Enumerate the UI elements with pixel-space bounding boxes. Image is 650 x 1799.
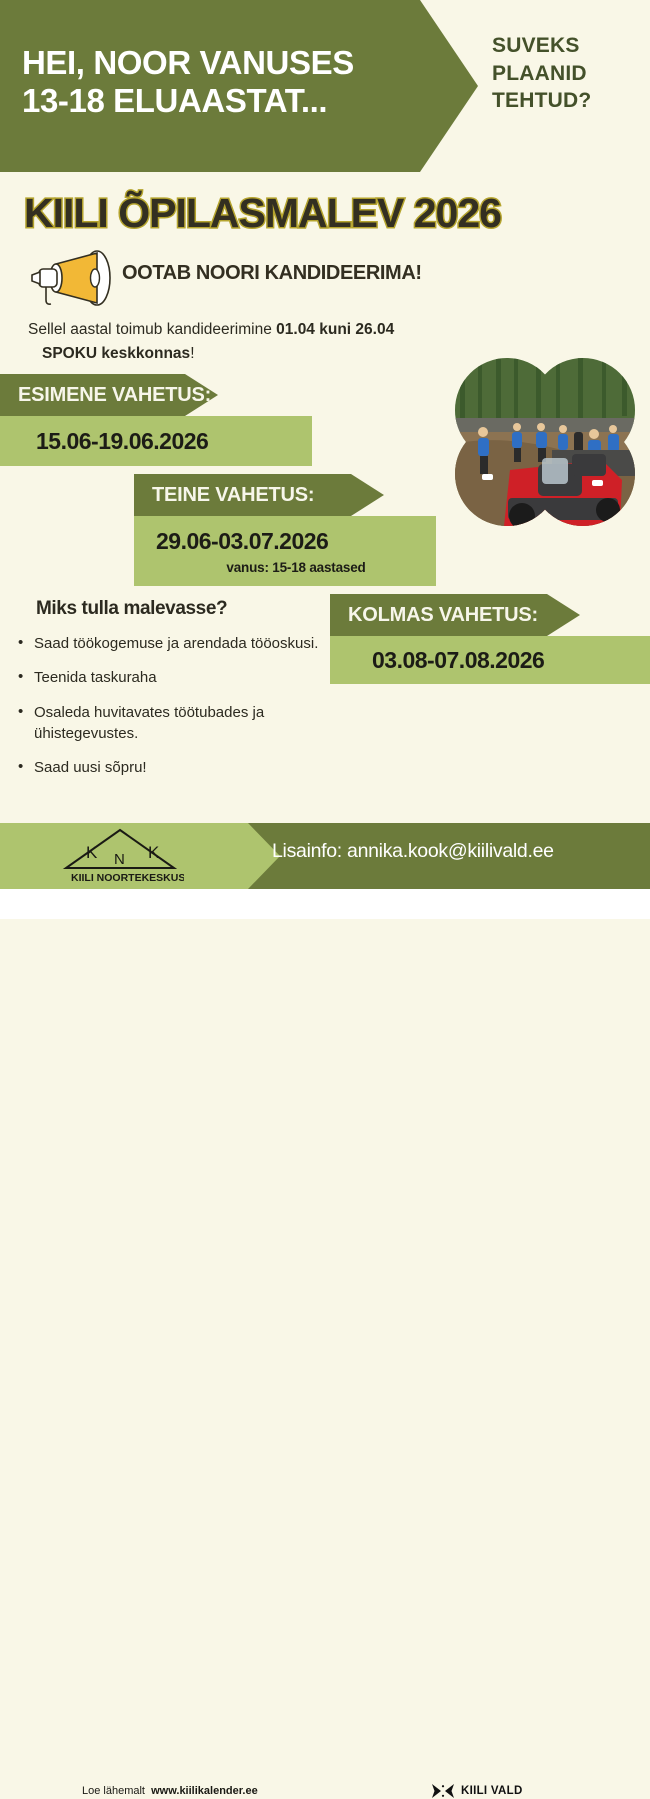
page-subtitle: OOTAB NOORI KANDIDEERIMA! (122, 262, 422, 285)
svg-text:N: N (114, 851, 125, 868)
shift-2-date-banner: 29.06-03.07.2026 vanus: 15-18 aastased (134, 516, 436, 586)
benefits-list: Saad töökogemuse ja arendada tööoskusi. … (14, 633, 330, 791)
shift-3-label-banner: KOLMAS VAHETUS: (330, 594, 580, 636)
bottom-bar: Loe lähemalt www.kiilikalender.ee KIILI … (0, 889, 650, 919)
shift-1-date-banner: 15.06-19.06.2026 (0, 416, 312, 466)
header-headline-line1: HEI, NOOR VANUSES (22, 44, 354, 81)
list-item: Saad töökogemuse ja arendada tööoskusi. (14, 633, 330, 654)
svg-text:K: K (148, 843, 160, 862)
intro-line2: SPOKU keskkonnas! (28, 342, 498, 366)
shift-3-dates: 03.08-07.08.2026 (372, 647, 650, 674)
list-item: Saad uusi sõpru! (14, 757, 330, 778)
kiili-noortekeskus-logo: K N K KIILI NOORTEKESKUS (56, 824, 184, 886)
contact-email[interactable]: Lisainfo: annika.kook@kiilivald.ee (272, 840, 554, 863)
shift-3-date-banner: 03.08-07.08.2026 (330, 636, 650, 684)
header-headline: HEI, NOOR VANUSES 13-18 ELUAASTAT... (22, 44, 422, 119)
header-band: HEI, NOOR VANUSES 13-18 ELUAASTAT... SUV… (0, 0, 650, 172)
shift-1-label-banner: ESIMENE VAHETUS: (0, 374, 218, 416)
intro-paragraph: Sellel aastal toimub kandideerimine 01.0… (28, 318, 498, 367)
website-link[interactable]: www.kiilikalender.ee (151, 1785, 258, 1797)
header-question: SUVEKS PLAANID TEHTUD? (492, 32, 642, 115)
read-more-line: Loe lähemalt www.kiilikalender.ee (82, 1785, 258, 1797)
kiili-vald-mark-icon (432, 1783, 454, 1799)
svg-text:KIILI NOORTEKESKUS: KIILI NOORTEKESKUS (71, 872, 184, 884)
kiili-vald-name: KIILI VALD (461, 1785, 523, 1797)
list-item: Teenida taskuraha (14, 667, 330, 688)
intro-text-post: ! (190, 345, 194, 362)
shift-1-label: ESIMENE VAHETUS: (0, 384, 211, 407)
svg-text:K: K (86, 843, 98, 862)
shift-1-dates: 15.06-19.06.2026 (36, 428, 312, 455)
poster: HEI, NOOR VANUSES 13-18 ELUAASTAT... SUV… (0, 0, 650, 919)
shift-2-label: TEINE VAHETUS: (134, 484, 314, 507)
shift-2-age-note: vanus: 15-18 aastased (156, 560, 436, 575)
benefits-heading: Miks tulla malevasse? (36, 598, 227, 620)
header-question-line3: TEHTUD? (492, 87, 642, 115)
list-item: Osaleda huvitavates töötubades ja ühiste… (14, 702, 330, 745)
megaphone-icon (26, 248, 118, 308)
intro-text-pre: Sellel aastal toimub kandideerimine (28, 321, 276, 338)
page-title: KIILI ÕPILASMALEV 2026 (24, 190, 634, 237)
shift-3-label: KOLMAS VAHETUS: (330, 604, 538, 627)
header-question-line2: PLAANID (492, 60, 642, 88)
kiili-vald-logo: KIILI VALD (432, 1783, 523, 1799)
intro-platform: SPOKU keskkonnas (42, 345, 190, 362)
shift-2-dates: 29.06-03.07.2026 (156, 528, 436, 555)
shift-2-label-banner: TEINE VAHETUS: (134, 474, 384, 516)
header-headline-line2: 13-18 ELUAASTAT... (22, 82, 422, 120)
activity-photo (452, 358, 638, 526)
read-more-label: Loe lähemalt (82, 1785, 145, 1797)
intro-dates: 01.04 kuni 26.04 (276, 321, 394, 338)
header-question-line1: SUVEKS (492, 32, 642, 60)
